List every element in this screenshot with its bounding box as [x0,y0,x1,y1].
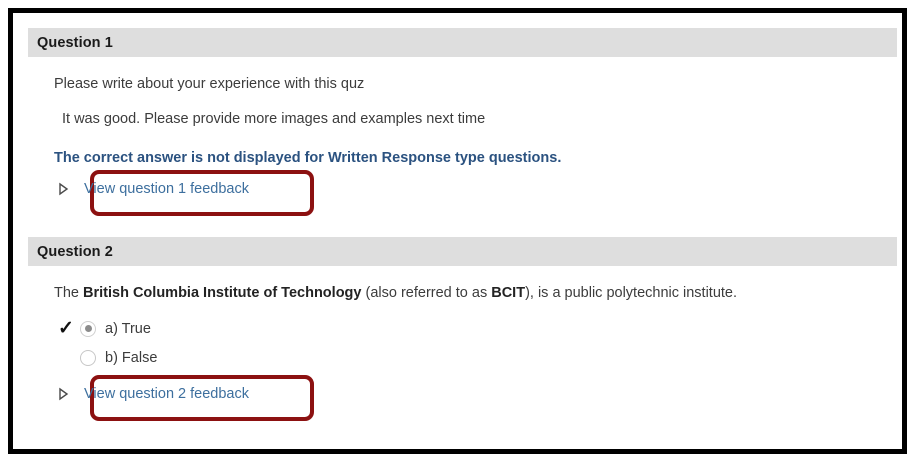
option-row-false[interactable]: b) False [28,343,897,372]
question-2-feedback-row: View question 2 feedback [28,372,897,416]
question-1-student-answer: It was good. Please provide more images … [28,93,897,128]
question-2-title: Question 2 [37,244,113,260]
option-label-false: b) False [105,350,157,366]
question-2-prompt-institution: British Columbia Institute of Technology [83,285,361,301]
question-1-feedback-row: View question 1 feedback [28,167,897,211]
question-block-2: Question 2 The British Columbia Institut… [28,237,897,416]
question-2-prompt-abbrev: BCIT [491,285,525,301]
question-1-title: Question 1 [37,35,113,51]
question-2-prompt-middle: (also referred to as [361,285,491,301]
option-label-true: a) True [105,321,151,337]
correct-check-icon: ✓ [58,319,80,338]
screenshot-frame: Question 1 Please write about your exper… [8,8,907,454]
triangle-right-icon[interactable] [56,182,70,196]
radio-button-true[interactable] [80,321,96,337]
triangle-right-icon[interactable] [56,387,70,401]
radio-button-false[interactable] [80,350,96,366]
question-2-header: Question 2 [28,237,897,266]
question-2-options: ✓ a) True b) False [28,302,897,372]
quiz-results-content: Question 1 Please write about your exper… [13,13,902,449]
question-2-body: The British Columbia Institute of Techno… [28,266,897,416]
question-2-prompt-tail: ), is a public polytechnic institute. [525,285,737,301]
radio-selected-dot [85,325,92,332]
question-1-body: Please write about your experience with … [28,57,897,211]
question-2-prompt-lead: The [54,285,83,301]
question-1-correct-answer-note: The correct answer is not displayed for … [28,128,897,167]
question-1-header: Question 1 [28,28,897,57]
option-row-true[interactable]: ✓ a) True [28,314,897,343]
question-block-1: Question 1 Please write about your exper… [28,28,897,211]
question-1-prompt: Please write about your experience with … [28,57,897,93]
view-question-1-feedback-link[interactable]: View question 1 feedback [78,177,255,201]
view-question-2-feedback-link[interactable]: View question 2 feedback [78,382,255,406]
question-2-prompt: The British Columbia Institute of Techno… [28,266,897,302]
